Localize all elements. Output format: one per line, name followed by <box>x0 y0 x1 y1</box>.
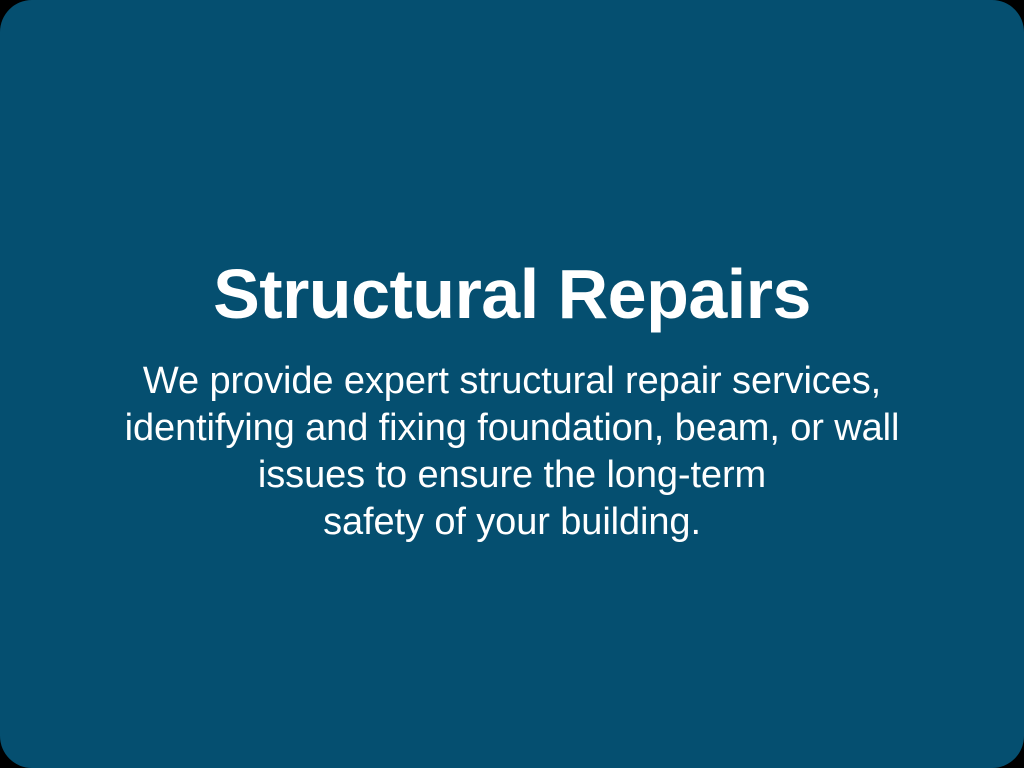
description-line-1: We provide expert structural repair serv… <box>82 358 942 405</box>
slide-card: Structural Repairs We provide expert str… <box>0 0 1024 768</box>
slide-content: Structural Repairs We provide expert str… <box>0 0 1024 768</box>
description-line-4: safety of your building. <box>82 499 942 546</box>
description-line-3: issues to ensure the long-term <box>82 452 942 499</box>
description-line-2: identifying and fixing foundation, beam,… <box>82 405 942 452</box>
slide-description: We provide expert structural repair serv… <box>82 358 942 546</box>
page-title: Structural Repairs <box>213 252 811 336</box>
